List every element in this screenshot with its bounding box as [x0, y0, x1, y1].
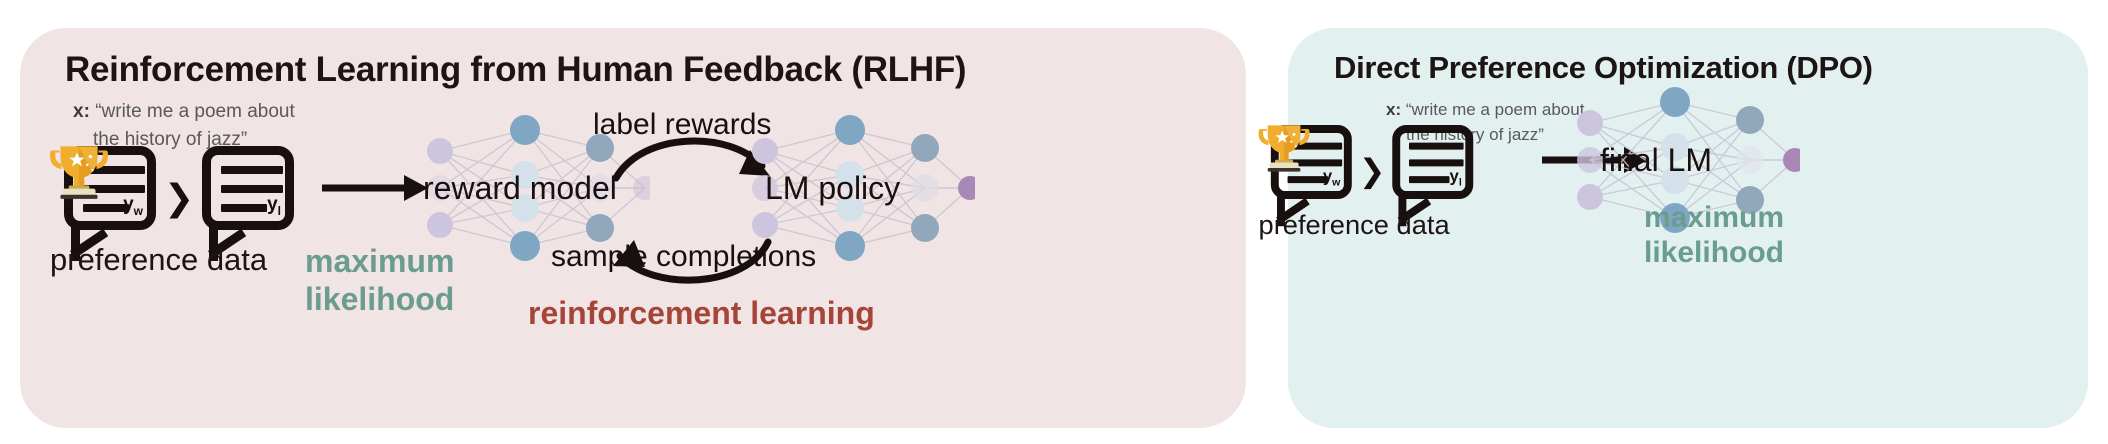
text-line-icon: [1409, 176, 1449, 183]
dpo-prompt-line-1: “write me a poem about: [1406, 100, 1585, 119]
dpo-preference-data-label: preference data: [1259, 210, 1450, 242]
dpo-preference-comparator: ❯: [1359, 153, 1386, 189]
dpo-panel-title: Direct Preference Optimization (DPO): [1334, 50, 1873, 86]
dpo-chosen-label: yw: [1323, 168, 1341, 187]
rlhf-bubble-row: yw ❯ yl: [46, 138, 296, 258]
rlhf-rejected-response-bubble: yl: [202, 146, 294, 230]
rlhf-preference-data-label: preference data: [50, 242, 267, 278]
rlhf-chosen-label: yw: [123, 195, 143, 217]
trophy-icon: [1255, 114, 1313, 176]
rlhf-panel: Reinforcement Learning from Human Feedba…: [20, 28, 1246, 428]
dpo-rejected-label: yl: [1450, 168, 1462, 187]
rlhf-prompt-line-1: “write me a poem about: [95, 101, 295, 122]
dpo-preference-data-group: yw ❯ yl: [1255, 118, 1475, 224]
dpo-ml-line-1: maximum: [1644, 201, 1784, 234]
trophy-icon: [46, 134, 112, 204]
rlhf-rejected-label: yl: [267, 195, 281, 217]
rlhf-panel-title: Reinforcement Learning from Human Feedba…: [65, 50, 966, 90]
reward-model-label: reward model: [423, 170, 617, 207]
rlhf-prompt-variable-label: x:: [73, 101, 90, 122]
dpo-ml-line-2: likelihood: [1644, 235, 1784, 270]
text-line-icon: [1409, 143, 1464, 150]
text-line-icon: [1409, 159, 1464, 166]
lm-policy-label: LM policy: [765, 170, 900, 207]
right-arrow-icon: [320, 168, 432, 208]
final-lm-label: final LM: [1600, 142, 1712, 179]
figure-canvas: Reinforcement Learning from Human Feedba…: [0, 0, 2108, 444]
rlhf-preference-comparator: ❯: [164, 178, 194, 219]
dpo-maximum-likelihood-caption: maximum likelihood: [1644, 200, 1784, 271]
rlhf-reinforcement-learning-caption: reinforcement learning: [528, 295, 875, 333]
rlhf-ml-line-2: likelihood: [305, 281, 454, 319]
text-line-icon: [221, 204, 267, 212]
dpo-prompt-variable-label: x:: [1386, 100, 1401, 119]
dpo-bubble-row: yw ❯ yl: [1255, 118, 1475, 224]
rlhf-ml-line-1: maximum: [305, 243, 454, 279]
text-line-icon: [221, 185, 283, 193]
rlhf-preference-data-group: yw ❯ yl: [46, 138, 296, 258]
text-line-icon: [221, 166, 283, 174]
dpo-rejected-response-bubble: yl: [1392, 125, 1473, 199]
rlhf-maximum-likelihood-caption: maximum likelihood: [305, 243, 454, 319]
